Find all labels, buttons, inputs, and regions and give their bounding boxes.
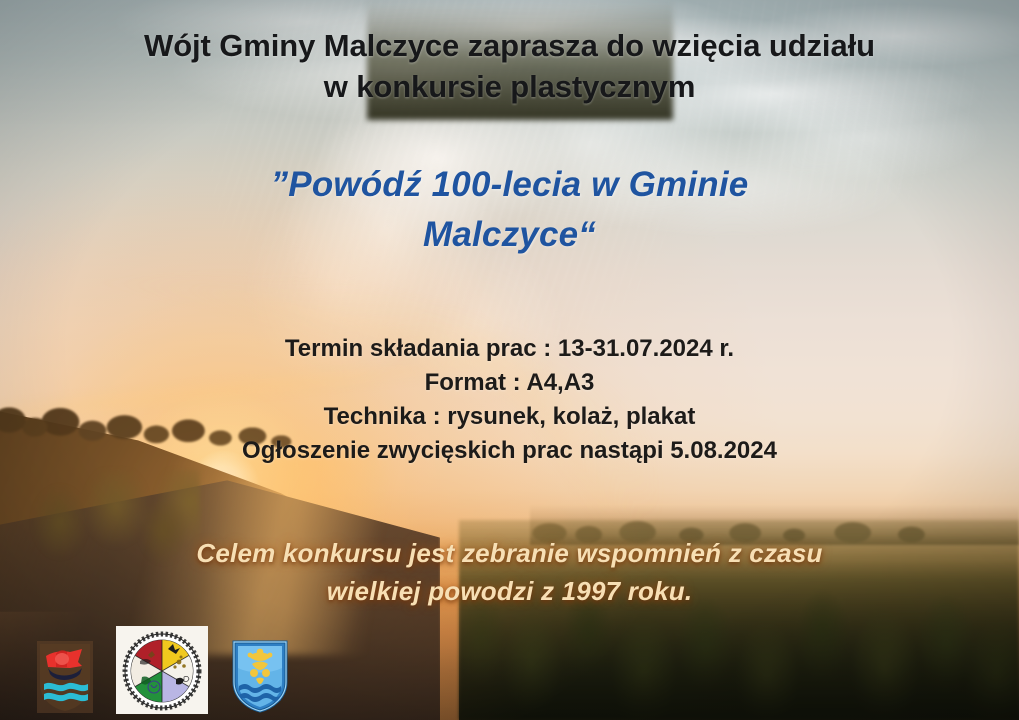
competition-title: ”Powódź 100-lecia w Gminie Malczyce“ xyxy=(0,160,1019,259)
detail-format: Format : A4,A3 xyxy=(0,366,1019,400)
detail-technique: Technika : rysunek, kolaż, plakat xyxy=(0,400,1019,434)
title-line-1: ”Powódź 100-lecia w Gminie xyxy=(0,160,1019,210)
poster-content: Wójt Gminy Malczyce zaprasza do wzięcia … xyxy=(0,0,1019,720)
powiat-sredzki-coat-of-arms-icon xyxy=(230,638,290,714)
purpose-line-2: wielkiej powodzi z 1997 roku. xyxy=(0,572,1019,610)
headline-line-2: w konkursie plastycznym xyxy=(0,67,1019,108)
gmina-malczyce-coat-of-arms-icon xyxy=(36,640,94,714)
submission-details: Termin składania prac : 13-31.07.2024 r.… xyxy=(0,332,1019,468)
detail-announcement: Ogłoszenie zwycięskich prac nastąpi 5.08… xyxy=(0,434,1019,468)
title-line-2: Malczyce“ xyxy=(0,210,1019,260)
purpose-statement: Celem konkursu jest zebranie wspomnień z… xyxy=(0,534,1019,611)
poster: Wójt Gminy Malczyce zaprasza do wzięcia … xyxy=(0,0,1019,720)
headline-line-1: Wójt Gminy Malczyce zaprasza do wzięcia … xyxy=(0,26,1019,67)
detail-deadline: Termin składania prac : 13-31.07.2024 r. xyxy=(0,332,1019,366)
poster-headline: Wójt Gminy Malczyce zaprasza do wzięcia … xyxy=(0,26,1019,108)
gminny-osrodek-kultury-wheel-logo-icon xyxy=(116,626,208,714)
organiser-logos xyxy=(36,626,290,714)
purpose-line-1: Celem konkursu jest zebranie wspomnień z… xyxy=(0,534,1019,572)
